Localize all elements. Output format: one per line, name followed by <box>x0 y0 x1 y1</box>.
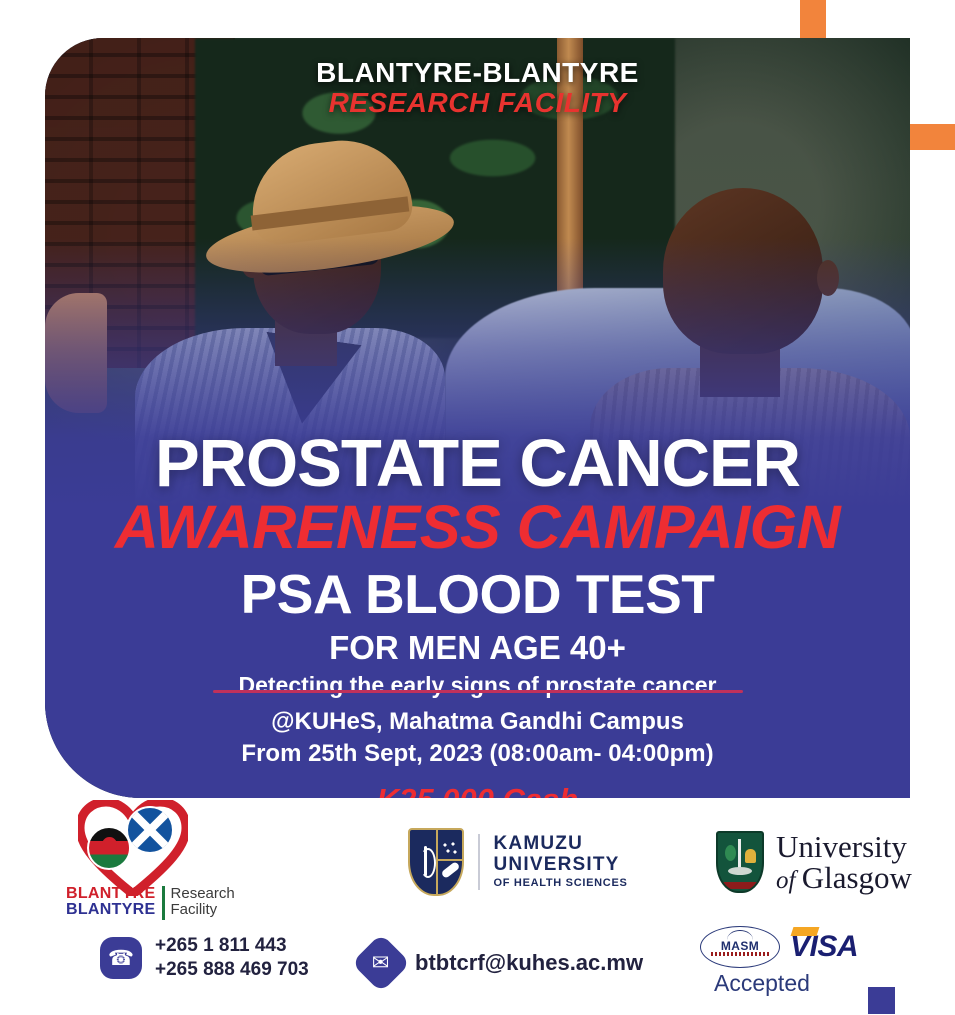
poster-text-layer: BLANTYRE-BLANTYRE RESEARCH FACILITY PROS… <box>45 38 910 798</box>
glasgow-city-word: Glasgow <box>802 860 912 895</box>
event-details: @KUHeS, Mahatma Gandhi Campus From 25th … <box>45 706 910 798</box>
glasgow-crest-icon <box>716 831 764 893</box>
payments-accepted-label: Accepted <box>714 970 810 997</box>
kuhes-shield-icon <box>408 828 464 896</box>
event-price: K25,000 Cash <box>45 782 910 798</box>
kuhes-logo: KAMUZU UNIVERSITY OF HEALTH SCIENCES <box>408 814 638 910</box>
kuhes-logo-divider <box>478 834 480 890</box>
title-line-1: PROSTATE CANCER <box>45 432 910 496</box>
title-line-2: AWARENESS CAMPAIGN <box>45 496 910 558</box>
glasgow-logo: University of Glasgow <box>716 814 931 910</box>
partner-logos: BLANTYRE BLANTYRE Research Facility KAMU… <box>0 798 955 926</box>
glasgow-line-1: University <box>776 831 912 862</box>
bbrf-research-label: Research <box>171 886 235 902</box>
blue-square-accent <box>868 987 895 1014</box>
brand-header: BLANTYRE-BLANTYRE RESEARCH FACILITY <box>45 58 910 117</box>
glasgow-of-word: of <box>776 867 802 894</box>
bbrf-word-1: BLANTYRE <box>66 886 156 902</box>
poster-card: BLANTYRE-BLANTYRE RESEARCH FACILITY PROS… <box>45 38 910 798</box>
bbrf-word-2: BLANTYRE <box>66 902 156 918</box>
phone-number-1: +265 1 811 443 <box>155 934 309 958</box>
eligibility-text: FOR MEN AGE 40+ <box>45 630 910 667</box>
kuhes-line-2: UNIVERSITY <box>494 855 628 876</box>
psa-subtitle: PSA BLOOD TEST <box>45 559 910 631</box>
brand-line-1: BLANTYRE-BLANTYRE <box>45 58 910 88</box>
headline-block: PROSTATE CANCER AWARENESS CAMPAIGN PSA B… <box>45 432 910 704</box>
envelope-icon: ✉ <box>351 933 410 992</box>
bbrf-wordmark: BLANTYRE BLANTYRE Research Facility <box>66 886 256 920</box>
phone-contact[interactable]: ☎ +265 1 811 443 +265 888 469 703 <box>100 934 309 983</box>
masm-label: MASM <box>701 939 779 953</box>
email-address: btbtcrf@kuhes.ac.mw <box>415 949 643 977</box>
bbrf-divider <box>162 886 165 920</box>
footer: BLANTYRE BLANTYRE Research Facility KAMU… <box>0 798 955 1015</box>
section-divider <box>213 690 743 693</box>
event-datetime: From 25th Sept, 2023 (08:00am- 04:00pm) <box>45 738 910 770</box>
kuhes-line-3: OF HEALTH SCIENCES <box>494 878 628 890</box>
phone-number-2: +265 888 469 703 <box>155 958 309 982</box>
email-contact[interactable]: ✉ btbtcrf@kuhes.ac.mw <box>360 942 643 984</box>
tagline-text: Detecting the early signs of prostate ca… <box>45 667 910 704</box>
masm-logo-icon: MASM <box>700 926 780 968</box>
scotland-flag-icon <box>126 806 174 854</box>
visa-logo-icon: VISA <box>790 930 858 964</box>
glasgow-line-2: of Glasgow <box>776 862 912 893</box>
bbrf-facility-label: Facility <box>171 902 235 918</box>
malawi-flag-icon <box>87 826 131 870</box>
bbrf-logo: BLANTYRE BLANTYRE Research Facility <box>60 800 260 924</box>
kuhes-line-1: KAMUZU <box>494 834 628 855</box>
phone-icon: ☎ <box>100 937 142 979</box>
brand-line-2: RESEARCH FACILITY <box>45 88 910 118</box>
event-venue: @KUHeS, Mahatma Gandhi Campus <box>45 706 910 738</box>
